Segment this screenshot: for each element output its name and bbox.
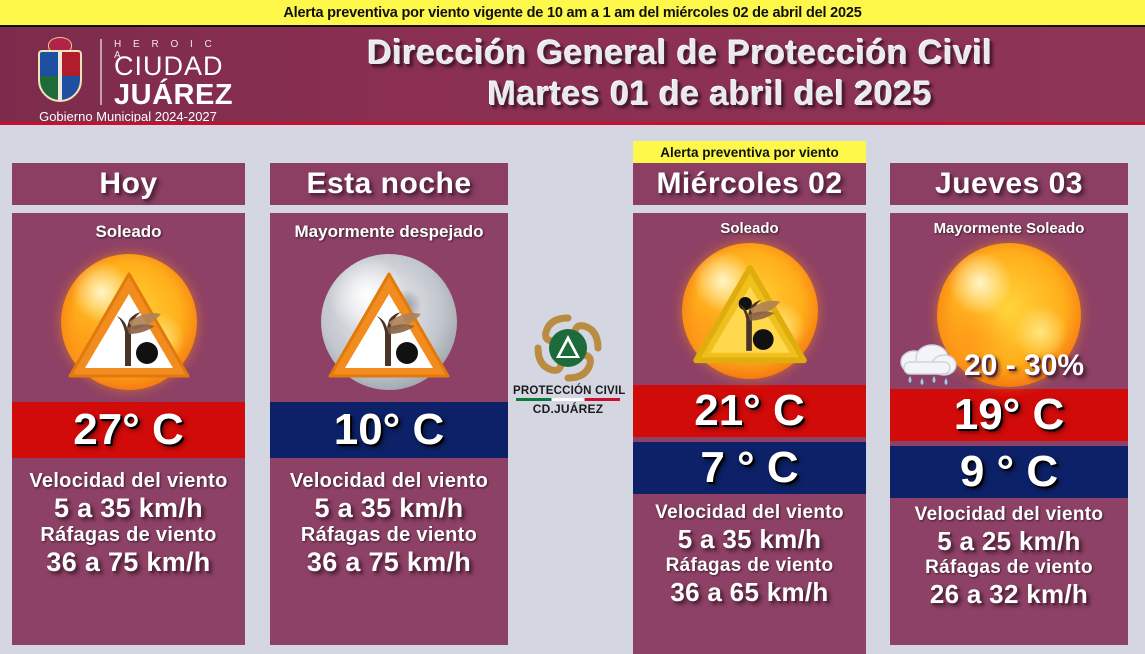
crest-shield	[38, 50, 82, 102]
crest-quarter-2	[60, 52, 80, 76]
brand-gobierno-municipal: Gobierno Municipal 2024-2027	[28, 109, 228, 124]
weather-icon-sun: 20 - 30%	[890, 237, 1128, 389]
card-day-header: Esta noche	[270, 163, 508, 205]
temperature-bar-high: 27° C	[12, 402, 245, 458]
card-body: Soleado 21° C 7 ° C Velocidad d	[633, 213, 866, 654]
condition-label: Soleado	[633, 213, 866, 237]
top-alert-text: Alerta preventiva por viento vigente de …	[283, 5, 861, 21]
proteccion-civil-logo: PROTECCIÓN CIVIL CD.JUÁREZ	[513, 312, 623, 422]
crest-quarter-4	[60, 76, 80, 100]
proteccion-civil-emblem-icon	[532, 312, 604, 384]
card-day-header: Jueves 03	[890, 163, 1128, 205]
forecast-card-esta-noche[interactable]: Esta noche Mayormente despejado 10° C Ve…	[270, 163, 508, 645]
wind-speed-value: 5 a 35 km/h	[12, 493, 245, 524]
wind-speed-label: Velocidad del viento	[633, 502, 866, 524]
temperature-bar-high: 21° C	[633, 385, 866, 437]
forecast-card-jueves-03[interactable]: Jueves 03 Mayormente Soleado	[890, 163, 1128, 645]
proteccion-civil-city: CD.JUÁREZ	[513, 402, 623, 416]
condition-label: Mayormente despejado	[270, 213, 508, 242]
wind-gusts-value: 36 a 75 km/h	[12, 547, 245, 578]
wind-info: Velocidad del viento 5 a 35 km/h Ráfagas…	[12, 458, 245, 578]
wind-warning-triangle-icon	[67, 270, 191, 380]
weather-icon-sun-with-wind-warning	[633, 237, 866, 385]
weather-icon-sun-with-wind-warning	[12, 242, 245, 402]
proteccion-civil-name: PROTECCIÓN CIVIL	[513, 385, 623, 397]
card-body: Mayormente despejado 10° C Velocidad del…	[270, 213, 508, 645]
card-day-header: Hoy	[12, 163, 245, 205]
masthead: H E R O I C A CIUDAD JUÁREZ Gobierno Mun…	[0, 27, 1145, 125]
temperature-high-value: 27° C	[73, 405, 184, 455]
precipitation-row: 20 - 30%	[896, 343, 1128, 389]
temperature-bar-low: 9 ° C	[890, 446, 1128, 498]
wind-speed-value: 5 a 35 km/h	[633, 524, 866, 555]
wind-info: Velocidad del viento 5 a 35 km/h Ráfagas…	[270, 458, 508, 578]
rain-cloud-icon	[896, 344, 958, 388]
brand-juarez: JUÁREZ	[114, 79, 233, 112]
temperature-low-value: 10° C	[334, 405, 445, 455]
card-wind-alert-banner: Alerta preventiva por viento	[633, 141, 866, 163]
brand-divider	[100, 39, 102, 105]
wind-speed-value: 5 a 25 km/h	[890, 526, 1128, 557]
wind-gusts-label: Ráfagas de viento	[890, 557, 1128, 579]
wind-speed-label: Velocidad del viento	[270, 470, 508, 493]
temperature-high-value: 19° C	[954, 390, 1065, 440]
title-line-2: Martes 01 de abril del 2025	[230, 74, 1130, 115]
card-day-label: Miércoles 02	[656, 167, 842, 201]
card-body: Mayormente Soleado	[890, 213, 1128, 645]
crest-pale	[58, 52, 63, 100]
wind-gusts-label: Ráfagas de viento	[12, 524, 245, 547]
mexico-flag-rule	[516, 398, 620, 401]
wind-warning-triangle-icon	[691, 262, 809, 366]
temperature-low-value: 9 ° C	[960, 447, 1058, 497]
condition-label: Mayormente Soleado	[890, 213, 1128, 237]
card-day-label: Esta noche	[306, 167, 471, 201]
brand-ciudad: CIUDAD	[114, 51, 224, 82]
page-title: Dirección General de Protección Civil Ma…	[230, 33, 1130, 116]
wind-gusts-label: Ráfagas de viento	[270, 524, 508, 547]
card-wind-alert-text: Alerta preventiva por viento	[660, 145, 839, 160]
wind-gusts-value: 26 a 32 km/h	[890, 579, 1128, 610]
city-brand: H E R O I C A CIUDAD JUÁREZ Gobierno Mun…	[14, 29, 224, 125]
wind-speed-value: 5 a 35 km/h	[270, 493, 508, 524]
wind-gusts-value: 36 a 75 km/h	[270, 547, 508, 578]
temperature-bar-high: 19° C	[890, 389, 1128, 441]
wind-gusts-label: Ráfagas de viento	[633, 555, 866, 577]
card-day-label: Hoy	[99, 167, 157, 201]
forecast-card-hoy[interactable]: Hoy Soleado 27° C Velocidad del viento 5…	[12, 163, 245, 645]
wind-speed-label: Velocidad del viento	[890, 504, 1128, 526]
card-body: Soleado 27° C Velocidad del viento 5 a 3…	[12, 213, 245, 645]
temperature-bar-low: 10° C	[270, 402, 508, 458]
condition-label: Soleado	[12, 213, 245, 242]
wind-gusts-value: 36 a 65 km/h	[633, 577, 866, 608]
weather-icon-moon-with-wind-warning	[270, 242, 508, 402]
wind-warning-triangle-icon	[327, 270, 451, 380]
title-line-1: Dirección General de Protección Civil	[230, 33, 1130, 74]
forecast-card-miercoles-02[interactable]: Alerta preventiva por viento Miércoles 0…	[633, 141, 866, 654]
card-day-header: Miércoles 02	[633, 163, 866, 205]
coat-of-arms-icon	[34, 37, 86, 109]
precipitation-probability: 20 - 30%	[964, 349, 1084, 383]
temperature-high-value: 21° C	[694, 386, 805, 436]
temperature-low-value: 7 ° C	[700, 443, 798, 493]
card-day-label: Jueves 03	[935, 167, 1083, 201]
top-alert-banner: Alerta preventiva por viento vigente de …	[0, 0, 1145, 27]
wind-info: Velocidad del viento 5 a 25 km/h Ráfagas…	[890, 498, 1128, 610]
wind-info: Velocidad del viento 5 a 35 km/h Ráfagas…	[633, 494, 866, 608]
temperature-bar-low: 7 ° C	[633, 442, 866, 494]
wind-speed-label: Velocidad del viento	[12, 470, 245, 493]
